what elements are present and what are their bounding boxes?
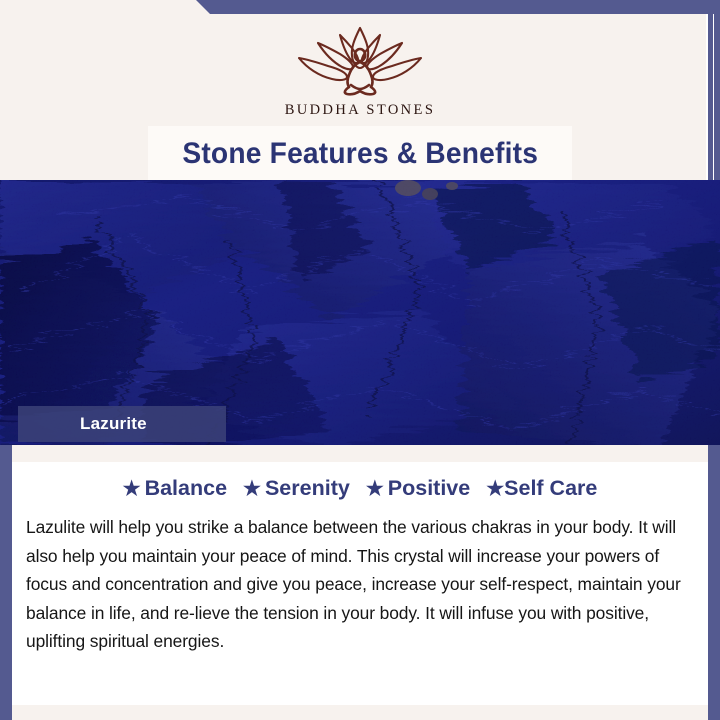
lotus-meditation-icon xyxy=(285,22,435,98)
title-banner: Stone Features & Benefits xyxy=(148,126,572,182)
stone-name-label: Lazurite xyxy=(80,414,147,434)
stone-features-infographic: BUDDHA STONES Stone Features & Benefits xyxy=(0,0,720,720)
benefits-list: ★ Balance ★ Serenity ★ Positive ★ Self C… xyxy=(12,476,708,501)
stone-name-tag: Lazurite xyxy=(18,406,226,442)
benefit-item-balance: ★ Balance xyxy=(123,476,227,501)
brand-name: BUDDHA STONES xyxy=(285,102,436,119)
star-icon: ★ xyxy=(486,479,504,499)
brand-logo: BUDDHA STONES xyxy=(0,22,720,119)
page-title: Stone Features & Benefits xyxy=(182,137,538,171)
star-icon: ★ xyxy=(243,479,261,499)
benefit-label: Serenity xyxy=(265,476,350,501)
benefit-label: Positive xyxy=(388,476,470,501)
benefit-label: Balance xyxy=(145,476,227,501)
content-bottom-strip xyxy=(12,705,708,720)
benefit-item-positive: ★ Positive xyxy=(366,476,470,501)
star-icon: ★ xyxy=(123,479,141,499)
content-top-strip xyxy=(12,445,708,462)
star-icon: ★ xyxy=(366,479,384,499)
benefit-item-self-care: ★ Self Care xyxy=(486,476,597,501)
benefit-label: Self Care xyxy=(504,476,597,501)
stone-description: Lazulite will help you strike a balance … xyxy=(26,513,690,656)
benefit-item-serenity: ★ Serenity xyxy=(243,476,350,501)
